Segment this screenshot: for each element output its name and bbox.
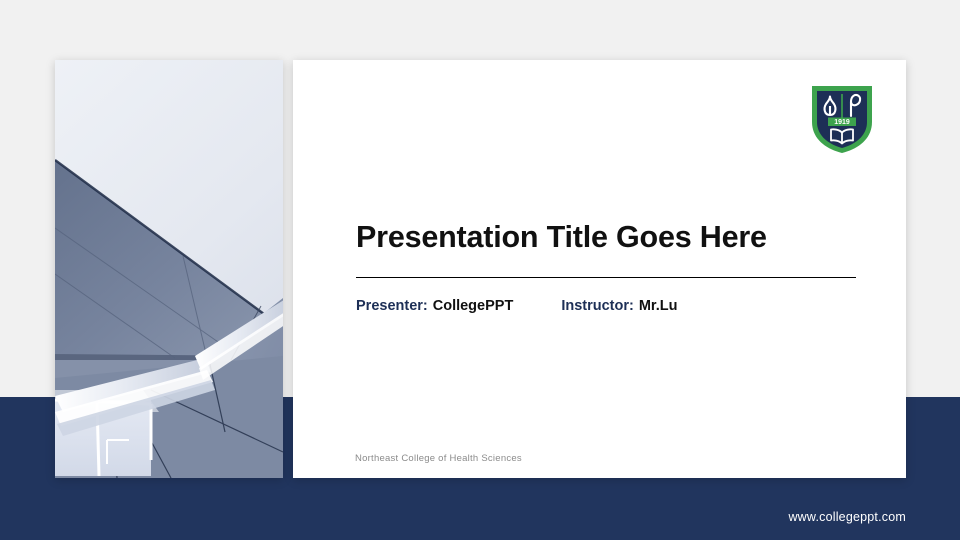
instructor-field: Instructor: Mr.Lu	[561, 298, 677, 314]
slide-content-card: 1919 Presentation Title Goes Here Presen…	[293, 60, 906, 478]
architecture-photo	[55, 60, 283, 478]
crest-year: 1919	[834, 119, 850, 126]
title-block: Presentation Title Goes Here Presenter: …	[356, 220, 856, 314]
instructor-value: Mr.Lu	[639, 298, 678, 314]
instructor-label: Instructor:	[561, 298, 634, 314]
organization-note: Northeast College of Health Sciences	[355, 453, 522, 464]
website-url[interactable]: www.collegeppt.com	[788, 510, 906, 524]
shield-crest-logo: 1919	[810, 82, 874, 154]
page-title: Presentation Title Goes Here	[356, 220, 856, 255]
presentation-slide: www.collegeppt.com	[0, 0, 960, 540]
meta-row: Presenter: CollegePPT Instructor: Mr.Lu	[356, 298, 856, 314]
presenter-label: Presenter:	[356, 298, 428, 314]
presenter-value: CollegePPT	[433, 298, 514, 314]
presenter-field: Presenter: CollegePPT	[356, 298, 513, 314]
title-divider	[356, 277, 856, 278]
